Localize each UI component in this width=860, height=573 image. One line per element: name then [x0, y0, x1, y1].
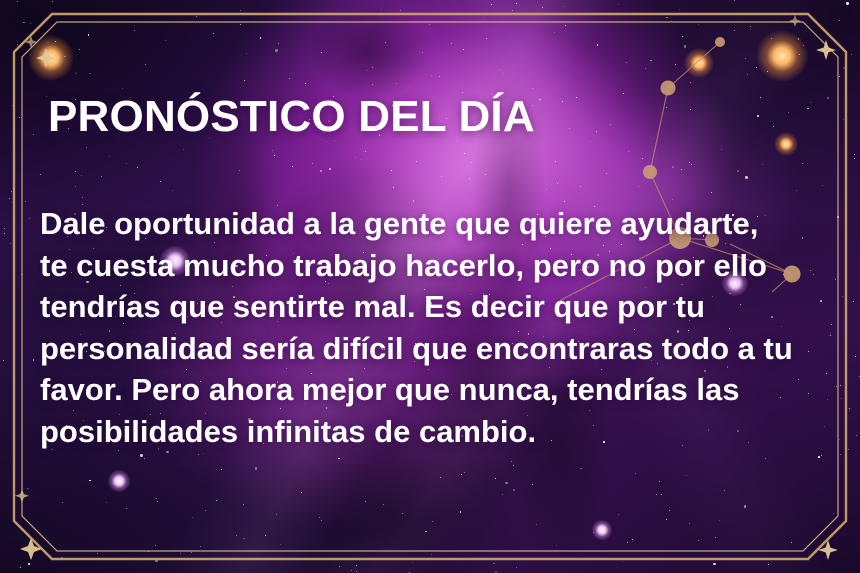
- four-point-sparkle: [15, 489, 29, 503]
- forecast-body: Dale oportunidad a la gente que quiere a…: [40, 203, 830, 452]
- four-point-sparkle: [789, 15, 801, 27]
- four-point-sparkle: [818, 540, 838, 560]
- forecast-line: personalidad sería difícil que encontrar…: [40, 328, 830, 370]
- forecast-line: posibilidades infinitas de cambio.: [40, 411, 830, 453]
- page-title: PRONÓSTICO DEL DÍA: [48, 95, 535, 139]
- horoscope-card: PRONÓSTICO DEL DÍA Dale oportunidad a la…: [0, 0, 860, 573]
- forecast-line: Dale oportunidad a la gente que quiere a…: [40, 203, 830, 245]
- four-point-sparkle: [20, 538, 42, 560]
- four-point-sparkle: [816, 40, 836, 60]
- forecast-line: favor. Pero ahora mejor que nunca, tendr…: [40, 369, 830, 411]
- forecast-line: tendrías que sentirte mal. Es decir que …: [40, 286, 830, 328]
- four-point-sparkle: [36, 48, 56, 68]
- forecast-line: te cuesta mucho trabajo hacerlo, pero no…: [40, 245, 830, 287]
